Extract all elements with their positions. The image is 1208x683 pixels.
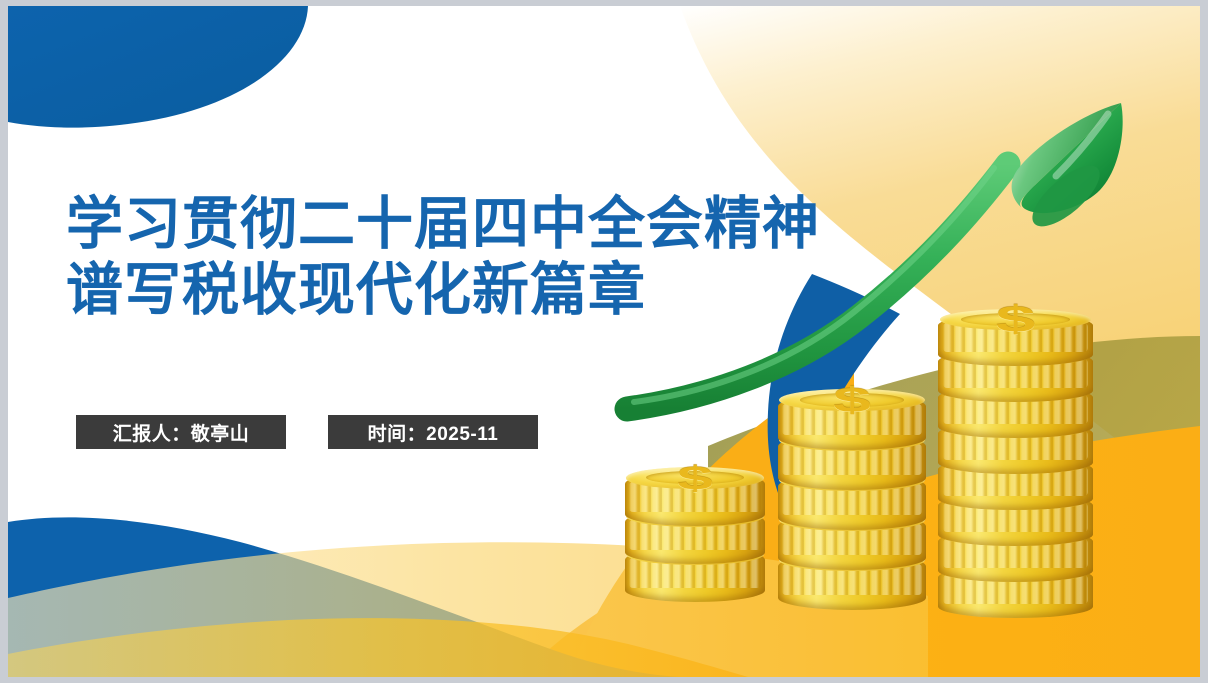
decor-blue-bottom-left <box>8 517 680 677</box>
coin-stack-medium: $ <box>778 390 926 608</box>
decor-blue-top-left <box>8 6 308 128</box>
presentation-slide: $$$ 学习贯彻二十届四中全会精神 谱写税收现代化新篇章 汇报人：敬亭山 时间：… <box>0 0 1208 683</box>
page-title: 学习贯彻二十届四中全会精神 谱写税收现代化新篇章 <box>66 192 886 324</box>
dollar-sign-icon: $ <box>940 314 1092 325</box>
coin: $ <box>625 472 765 526</box>
dollar-sign-icon: $ <box>779 394 924 406</box>
dollar-sign-icon: $ <box>626 472 763 483</box>
meta-badge-row: 汇报人：敬亭山 时间：2025-11 <box>76 415 538 449</box>
coin: $ <box>938 314 1093 366</box>
presenter-badge: 汇报人：敬亭山 <box>76 415 286 449</box>
decor-wave-amber <box>8 618 748 677</box>
coin-stack-small: $ <box>625 468 765 600</box>
title-line-2: 谱写税收现代化新篇章 <box>66 258 886 324</box>
title-line-1: 学习贯彻二十届四中全会精神 <box>66 192 886 258</box>
coin-face: $ <box>940 309 1092 330</box>
date-badge: 时间：2025-11 <box>328 415 538 449</box>
coin-face: $ <box>626 467 763 489</box>
slide-canvas: $$$ 学习贯彻二十届四中全会精神 谱写税收现代化新篇章 汇报人：敬亭山 时间：… <box>8 6 1200 677</box>
arrow-head-cone <box>1012 103 1123 236</box>
coin: $ <box>778 394 926 450</box>
coin-stack-large: $ <box>938 310 1093 616</box>
